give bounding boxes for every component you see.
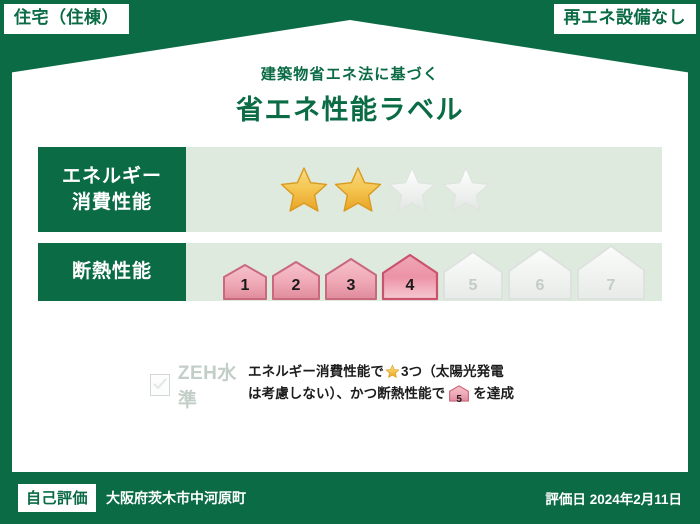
building-type-tag: 住宅（住棟） xyxy=(4,4,129,34)
house-icon-5 xyxy=(442,250,504,301)
house-icon-2 xyxy=(271,260,321,301)
insulation-performance-row: 断熱性能 xyxy=(38,243,662,301)
insulation-grade-scale: 1 2 3 xyxy=(222,244,646,301)
house-icon-7 xyxy=(576,244,646,301)
evaluation-date-value: 2024年2月11日 xyxy=(590,492,682,507)
insulation-grade-2: 2 xyxy=(271,260,321,301)
insulation-grade-3: 3 xyxy=(324,257,378,301)
house-icon-1 xyxy=(222,263,268,301)
zeh-section: ZEH水準 エネルギー消費性能で3つ（太陽光発電は考慮しない）、かつ断熱性能で5… xyxy=(38,358,662,412)
zeh-badge: ZEH水準 xyxy=(38,358,248,412)
property-address: 大阪府茨木市中河原町 xyxy=(106,488,246,508)
energy-performance-label: 住宅（住棟） 再エネ設備なし 建築物省エネ法に基づく 省エネ性能ラベル エネルギ… xyxy=(0,0,700,524)
zeh-description: エネルギー消費性能で3つ（太陽光発電は考慮しない）、かつ断熱性能で5を達成 xyxy=(248,361,662,410)
assessment-type-badge: 自己評価 xyxy=(18,484,96,512)
zeh-label: ZEH水準 xyxy=(178,358,248,412)
label-title: 省エネ性能ラベル xyxy=(0,88,700,127)
house-icon-3 xyxy=(324,257,378,301)
zeh-desc-part3: は考慮しない）、かつ断熱性能で xyxy=(248,386,445,401)
insulation-performance-header: 断熱性能 xyxy=(38,243,186,301)
insulation-grade-5: 5 xyxy=(442,250,504,301)
zeh-desc-part2: 3つ（太陽光発電 xyxy=(401,364,504,379)
star-icon-inline xyxy=(385,364,400,379)
evaluation-date: 評価日 2024年2月11日 xyxy=(545,488,682,508)
insulation-grade-7: 7 xyxy=(576,244,646,301)
insulation-grade-1: 1 xyxy=(222,263,268,301)
star-icon-filled-2 xyxy=(332,164,384,216)
evaluation-date-label: 評価日 xyxy=(545,492,586,507)
star-icon-empty-4 xyxy=(440,164,492,216)
insulation-grade-4: 4 xyxy=(381,253,439,301)
zeh-desc-part1: エネルギー消費性能で xyxy=(248,364,384,379)
insulation-performance-body: 1 2 3 xyxy=(186,243,662,301)
insulation-header-line1: 断熱性能 xyxy=(72,259,152,284)
performance-rows: エネルギー 消費性能 xyxy=(38,147,662,312)
renewable-energy-tag: 再エネ設備なし xyxy=(554,4,697,34)
energy-performance-header: エネルギー 消費性能 xyxy=(38,147,186,232)
energy-header-line1: エネルギー xyxy=(62,164,162,189)
label-subtitle: 建築物省エネ法に基づく xyxy=(0,63,700,84)
zeh-desc-badge-number: 5 xyxy=(448,392,470,409)
checkbox-icon xyxy=(150,374,170,396)
insulation-grade-6: 6 xyxy=(507,247,573,301)
label-footer: 自己評価 大阪府茨木市中河原町 評価日 2024年2月11日 xyxy=(0,482,700,514)
star-icon-empty-3 xyxy=(386,164,438,216)
energy-header-line2: 消費性能 xyxy=(72,190,152,215)
zeh-desc-part4: を達成 xyxy=(473,386,514,401)
star-rating xyxy=(278,164,492,216)
energy-performance-row: エネルギー 消費性能 xyxy=(38,147,662,232)
house-icon-inline: 5 xyxy=(448,385,470,409)
star-icon-filled-1 xyxy=(278,164,330,216)
house-icon-4 xyxy=(381,253,439,301)
house-icon-6 xyxy=(507,247,573,301)
energy-performance-body xyxy=(186,147,662,232)
title-block: 建築物省エネ法に基づく 省エネ性能ラベル xyxy=(0,63,700,127)
